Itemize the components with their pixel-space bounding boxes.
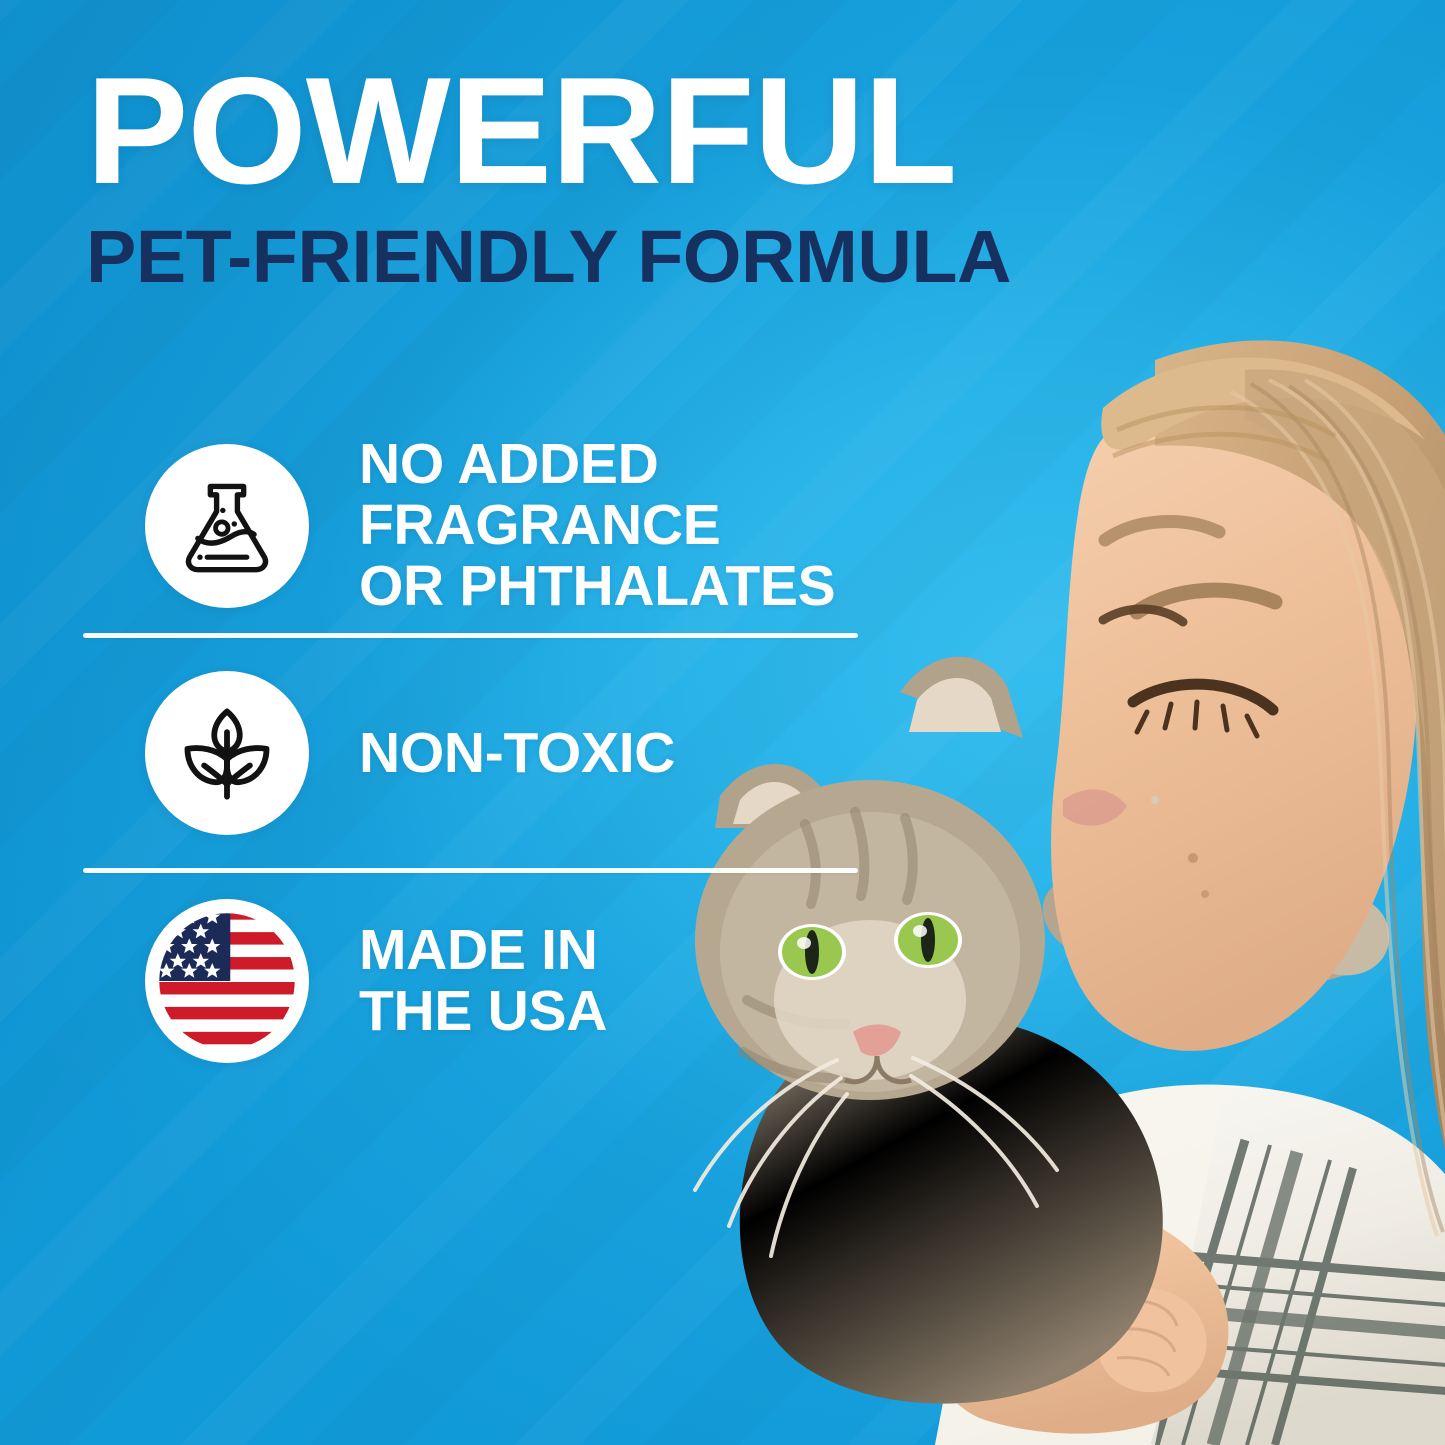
flask-icon [175,474,279,578]
headline-block: POWERFUL PET-FRIENDLY FORMULA [86,62,1256,294]
feature-label: NO ADDED FRAGRANCE OR PHTHALATES [359,434,835,617]
feature-label: MADE IN THE USA [359,920,607,1042]
flask-icon-badge [145,444,309,608]
product-feature-banner: POWERFUL PET-FRIENDLY FORMULA NO [0,0,1445,1445]
usa-flag-icon-badge [145,899,309,1063]
headline-secondary: PET-FRIENDLY FORMULA [86,220,1279,294]
feature-item-non-toxic: NON-TOXIC [83,638,873,868]
usa-flag-icon [145,899,309,1063]
leaf-plant-icon [175,701,279,805]
leaf-plant-icon-badge [145,671,309,835]
feature-label: NON-TOXIC [359,723,675,784]
feature-item-made-in-usa: MADE IN THE USA [83,873,873,1088]
feature-item-no-added-fragrance: NO ADDED FRAGRANCE OR PHTHALATES [83,418,873,633]
headline-primary: POWERFUL [86,62,1268,202]
feature-list: NO ADDED FRAGRANCE OR PHTHALATES [83,418,873,1088]
